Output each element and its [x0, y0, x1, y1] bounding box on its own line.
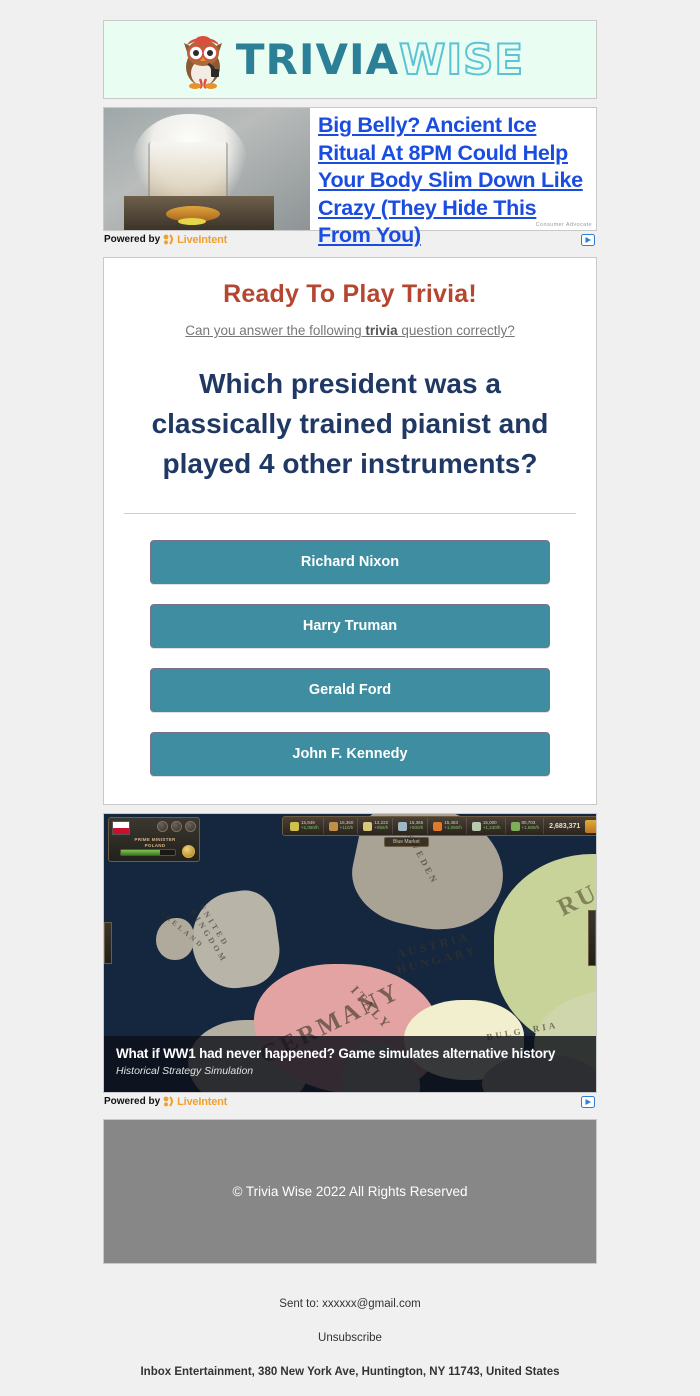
player-progress-bar: [120, 849, 176, 856]
trivia-question-card: Ready To Play Trivia! Can you answer the…: [103, 257, 597, 805]
player-info-panel[interactable]: PRIME MINISTER POLAND: [108, 817, 200, 862]
game-side-tab-left[interactable]: [104, 922, 112, 964]
liveintent-logo-icon: [163, 1096, 174, 1107]
ad-network-name: LiveIntent: [177, 1096, 227, 1108]
subtitle-part-1: Can you answer the following: [185, 323, 365, 338]
answer-options-list: Richard Nixon Harry Truman Gerald Ford J…: [104, 540, 596, 776]
hud-total-value: 2,683,371: [545, 823, 584, 830]
logo-text-primary: TRIVIA: [236, 39, 399, 81]
game-resource-hud: 15,949+1,050/h 16,360+110/h 13,222+955/h…: [282, 816, 596, 836]
owl-mascot-icon: [176, 31, 230, 89]
panel-icon-globe[interactable]: [157, 821, 168, 832]
logo-text-secondary: WISE: [399, 39, 524, 81]
email-meta-footer: Sent to: xxxxxx@gmail.com Unsubscribe In…: [103, 1264, 597, 1378]
resource-value: 16,360+110/h: [340, 821, 354, 831]
hud-add-button[interactable]: [585, 820, 596, 833]
ad-network-name: LiveIntent: [177, 234, 227, 246]
player-country: POLAND: [145, 843, 166, 848]
sent-to-text: Sent to: xxxxxx@gmail.com: [103, 1298, 597, 1310]
resource-icon: [290, 822, 299, 831]
ad-caption-title: What if WW1 had never happened? Game sim…: [116, 1046, 584, 1061]
resource-value: 15,483+1,080/h: [444, 821, 462, 831]
resource-icon: [329, 822, 338, 831]
resource-cell: 16,365+500/h: [394, 818, 428, 834]
resource-icon: [433, 822, 442, 831]
ad-caption-subtitle: Historical Strategy Simulation: [116, 1065, 584, 1077]
section-divider: [124, 513, 576, 514]
trivia-question-text: Which president was a classically traine…: [104, 364, 596, 483]
ad-powered-bar-game: Powered by LiveIntent: [103, 1093, 597, 1110]
resource-cell: 15,483+1,080/h: [429, 818, 467, 834]
email-page: TRIVIA WISE Big Belly? Ancient Ice Ritua…: [0, 0, 700, 1378]
resource-cell: 80,703+1,880/h: [507, 818, 545, 834]
answer-option-1[interactable]: Richard Nixon: [150, 540, 550, 584]
panel-icon-info[interactable]: [171, 821, 182, 832]
resource-value: 16,365+500/h: [409, 821, 423, 831]
unsubscribe-link[interactable]: Unsubscribe: [318, 1332, 382, 1344]
trivia-subtitle: Can you answer the following trivia ques…: [104, 323, 596, 338]
ad-attribution: Consumer Advocate: [536, 222, 592, 228]
player-role: PRIME MINISTER: [134, 837, 175, 842]
powered-by-label: Powered by: [104, 1096, 160, 1107]
game-screenshot[interactable]: RUSSIA UKRAINE GERMANY AUSTRIAHUNGARY IT…: [104, 814, 596, 1092]
ad-caption: What if WW1 had never happened? Game sim…: [104, 1036, 596, 1092]
answer-option-3[interactable]: Gerald Ford: [150, 668, 550, 712]
page-title: Ready To Play Trivia!: [104, 280, 596, 309]
liveintent-logo-icon: [163, 234, 174, 245]
advertisement-top[interactable]: Big Belly? Ancient Ice Ritual At 8PM Cou…: [103, 107, 597, 231]
resource-icon: [398, 822, 407, 831]
powered-by-label: Powered by: [104, 234, 160, 245]
brand-header: TRIVIA WISE: [103, 20, 597, 99]
resource-icon: [363, 822, 372, 831]
resource-value: 15,000+1,240/h: [483, 821, 501, 831]
hud-submenu-label[interactable]: Blue Market: [384, 837, 429, 847]
answer-option-4[interactable]: John F. Kennedy: [150, 732, 550, 776]
resource-value: 15,949+1,050/h: [301, 821, 319, 831]
panel-icon-home[interactable]: [185, 821, 196, 832]
resource-cell: 13,222+955/h: [359, 818, 393, 834]
ad-headline-link[interactable]: Big Belly? Ancient Ice Ritual At 8PM Cou…: [318, 112, 590, 250]
resource-cell: 16,360+110/h: [325, 818, 359, 834]
resource-cell: 15,949+1,050/h: [286, 818, 324, 834]
advertisement-game[interactable]: RUSSIA UKRAINE GERMANY AUSTRIAHUNGARY IT…: [103, 813, 597, 1093]
adchoices-icon[interactable]: [581, 1096, 595, 1108]
ad-thumbnail-image[interactable]: [104, 108, 310, 230]
subtitle-part-2: question correctly?: [398, 323, 515, 338]
resource-icon: [511, 822, 520, 831]
player-crest-icon[interactable]: [182, 845, 195, 858]
game-side-tab-right[interactable]: [588, 910, 596, 966]
copyright-footer: © Trivia Wise 2022 All Rights Reserved: [103, 1119, 597, 1264]
resource-value: 80,703+1,880/h: [522, 821, 540, 831]
copyright-text: © Trivia Wise 2022 All Rights Reserved: [232, 1184, 467, 1199]
resource-cell: 15,000+1,240/h: [468, 818, 506, 834]
subtitle-emphasis: trivia: [365, 323, 397, 338]
sender-address: Inbox Entertainment, 380 New York Ave, H…: [103, 1366, 597, 1378]
country-flag-icon: [112, 821, 130, 835]
answer-option-2[interactable]: Harry Truman: [150, 604, 550, 648]
resource-icon: [472, 822, 481, 831]
resource-value: 13,222+955/h: [374, 821, 388, 831]
